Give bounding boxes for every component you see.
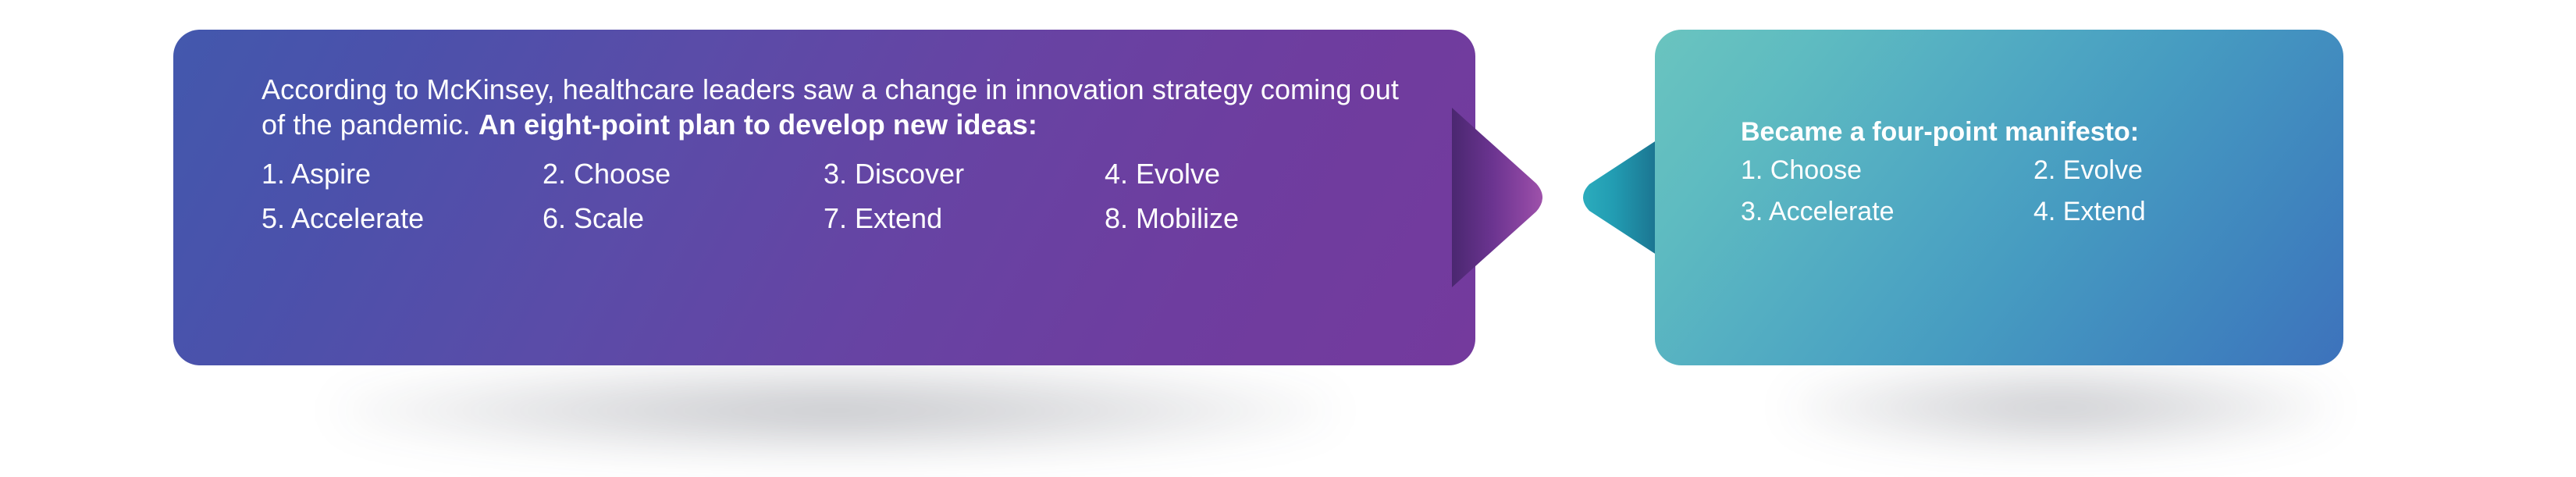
list-item: 1. Choose — [1741, 154, 2033, 187]
eight-point-plan-list: 1. Aspire 2. Choose 3. Discover 4. Evolv… — [262, 156, 1409, 236]
left-panel-drop-shadow — [336, 367, 1335, 454]
diagram-canvas: According to McKinsey, healthcare leader… — [0, 0, 2576, 477]
list-item: 7. Extend — [824, 201, 1105, 236]
list-item: 2. Choose — [543, 156, 824, 191]
left-panel-content: According to McKinsey, healthcare leader… — [262, 72, 1409, 236]
list-item: 3. Accelerate — [1741, 195, 2033, 229]
four-point-manifesto-list: 1. Choose 2. Evolve 3. Accelerate 4. Ext… — [1741, 154, 2287, 229]
right-panel-drop-shadow — [1788, 367, 2334, 448]
list-item: 6. Scale — [543, 201, 824, 236]
list-item: 4. Extend — [2033, 195, 2287, 229]
list-item: 8. Mobilize — [1105, 201, 1386, 236]
list-item: 3. Discover — [824, 156, 1105, 191]
list-item: 2. Evolve — [2033, 154, 2287, 187]
paragraph-emphasis-text: An eight-point plan to develop new ideas… — [479, 109, 1037, 141]
list-item: 5. Accelerate — [262, 201, 543, 236]
left-panel-paragraph: According to McKinsey, healthcare leader… — [262, 72, 1409, 142]
right-panel-heading: Became a four-point manifesto: — [1741, 116, 2287, 149]
right-panel-content: Became a four-point manifesto: 1. Choose… — [1741, 116, 2287, 229]
list-item: 1. Aspire — [262, 156, 543, 191]
list-item: 4. Evolve — [1105, 156, 1386, 191]
